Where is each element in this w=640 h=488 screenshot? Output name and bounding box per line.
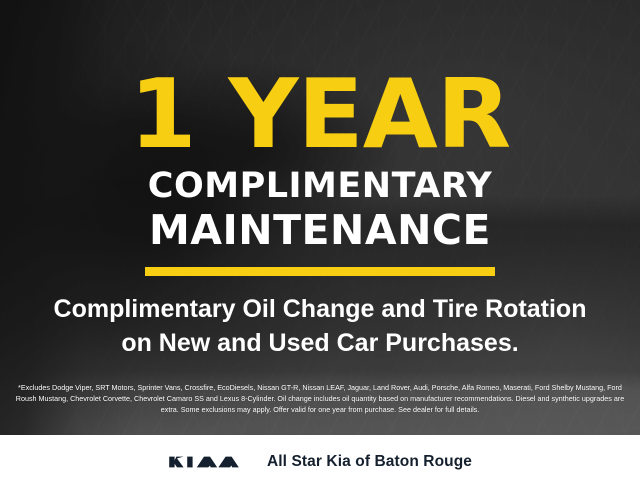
footer-logo-bar: All Star Kia of Baton Rouge: [0, 435, 640, 488]
yellow-divider-rule: [145, 267, 495, 276]
headline-secondary-line2: MAINTENANCE: [149, 210, 491, 251]
subheadline-line2: on New and Used Car Purchases.: [54, 327, 587, 360]
dealer-name: All Star Kia of Baton Rouge: [267, 453, 472, 471]
kia-logo-icon: [168, 452, 246, 472]
headline-secondary-line1: COMPLIMENTARY: [148, 169, 492, 204]
subheadline-line1: Complimentary Oil Change and Tire Rotati…: [54, 293, 587, 326]
promo-banner: 1 YEAR COMPLIMENTARY MAINTENANCE Complim…: [0, 0, 640, 488]
headline-primary: 1 YEAR: [129, 70, 510, 160]
subheadline: Complimentary Oil Change and Tire Rotati…: [54, 293, 587, 360]
banner-content: 1 YEAR COMPLIMENTARY MAINTENANCE Complim…: [0, 0, 640, 488]
disclaimer-text: *Excludes Dodge Viper, SRT Motors, Sprin…: [14, 382, 626, 415]
kia-logo[interactable]: [168, 452, 246, 472]
